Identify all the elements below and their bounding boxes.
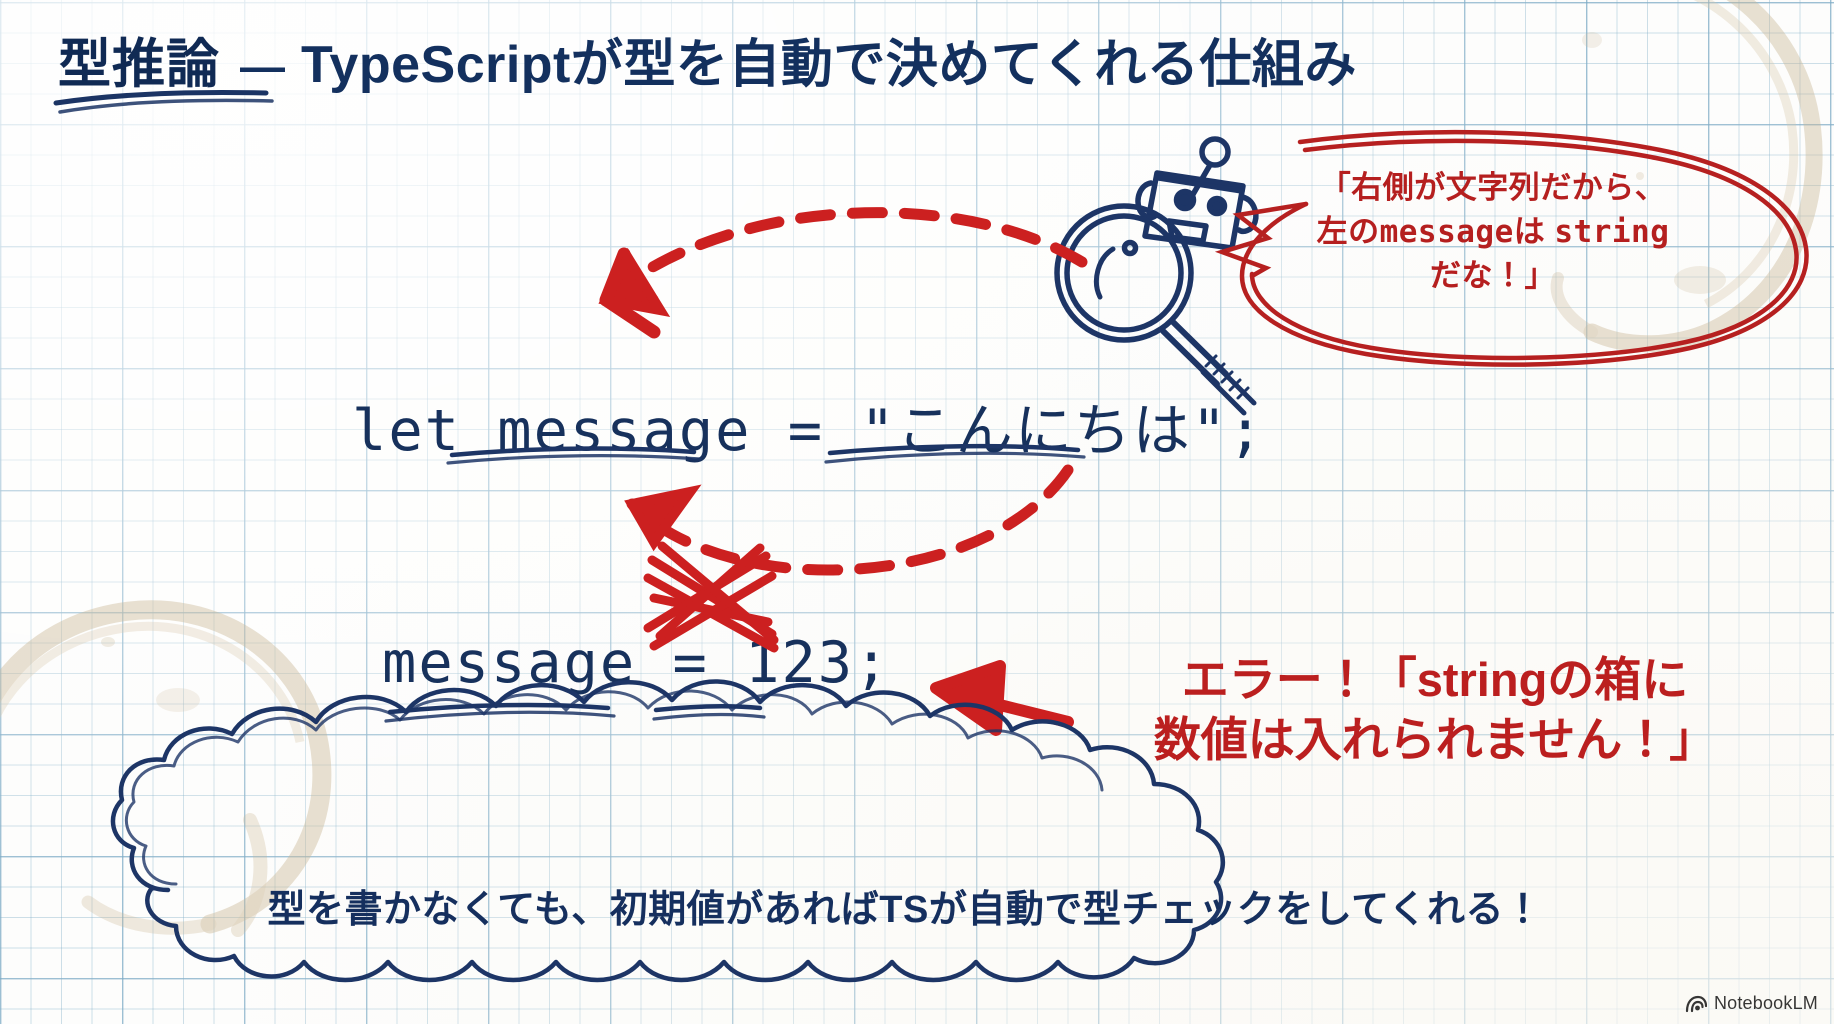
watermark: NotebookLM [1685,993,1818,1014]
title-rest: TypeScriptが型を自動で決めてくれる仕組み [301,22,1357,97]
notebooklm-logo-icon [1685,994,1707,1014]
watermark-label: NotebookLM [1714,993,1818,1014]
speech-line-2-mono2: string [1554,214,1669,250]
code-line-1: let message = "こんにちは"; [352,385,1264,467]
graph-paper-background [0,0,1834,1024]
title-dash: ― [240,41,285,93]
error-line-1: エラー！「stringの箱に [1085,650,1785,710]
error-line-2: 数値は入れられません！」 [1085,710,1785,770]
title-keyword: 型推論 [58,22,220,98]
cloud-summary-text: 型を書かなくても、初期値があればTSが自動で型チェックをしてくれる！ [190,878,1620,933]
speech-line-2-prefix: 左の [1317,214,1380,249]
speech-line-1: 「右側が文字列だから、 [1288,166,1698,210]
slide-canvas: 型推論 ― TypeScriptが型を自動で決めてくれる仕組み [0,0,1834,1024]
code-line-2: message = 123; [382,630,890,696]
speech-line-2-mono: message [1380,214,1514,250]
robot-speech-text: 「右側が文字列だから、 左のmessageは string だな！」 [1288,166,1698,298]
speech-line-2-mid: は [1514,214,1555,249]
error-callout: エラー！「stringの箱に 数値は入れられません！」 [1085,650,1785,770]
page-title: 型推論 ― TypeScriptが型を自動で決めてくれる仕組み [58,22,1357,98]
speech-line-3: だな！」 [1288,254,1698,298]
speech-line-2: 左のmessageは string [1288,210,1698,254]
